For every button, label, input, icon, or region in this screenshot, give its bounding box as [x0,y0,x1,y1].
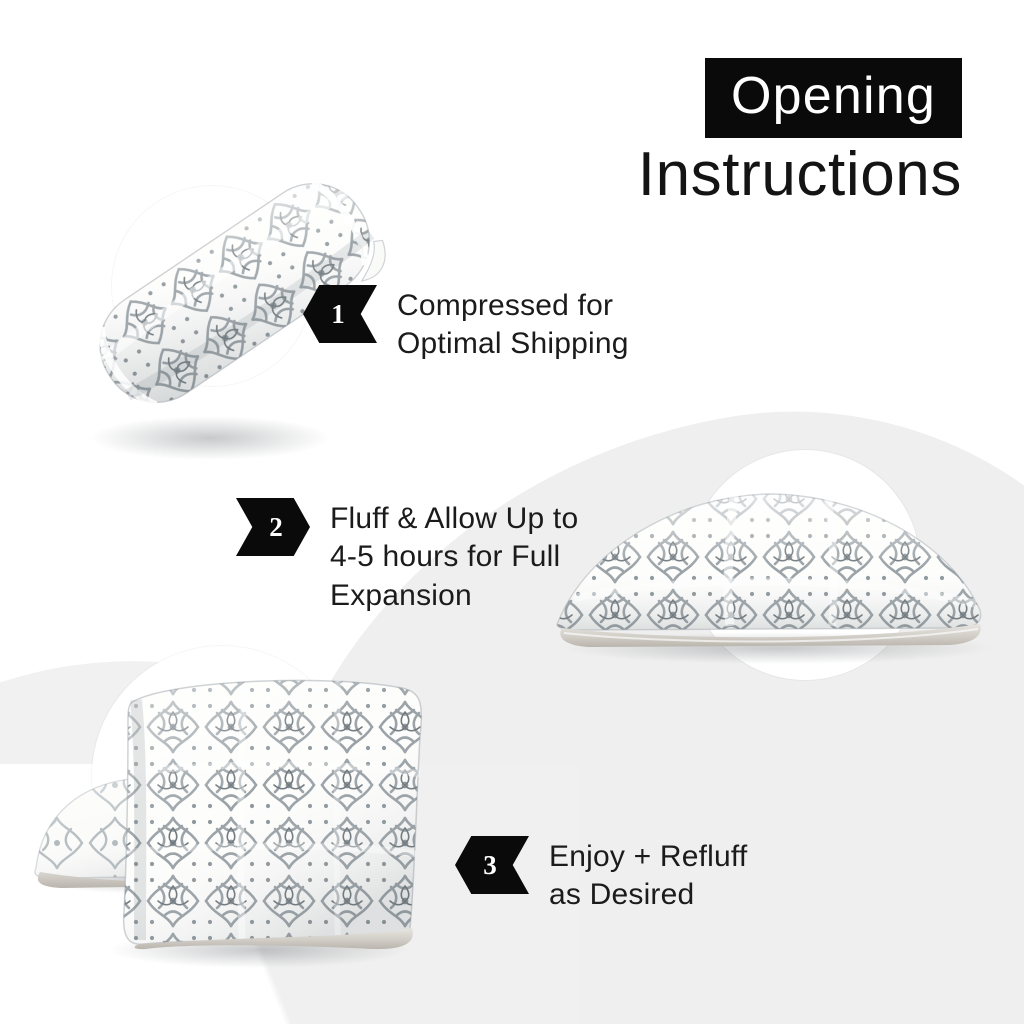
step-text-2: Fluff & Allow Up to 4-5 hours for Full E… [330,498,578,615]
step-number-badge-3: 3 [455,836,529,894]
step-item-2: 2 Fluff & Allow Up to 4-5 hours for Full… [236,498,578,615]
step-item-3: 3 Enjoy + Refluff as Desired [455,836,747,915]
title-banner-line: Opening [705,58,962,138]
step-number-badge-2: 2 [236,498,310,556]
title-second-line: Instructions [638,142,962,207]
pillow-pair-image [28,640,428,980]
step-text-3: Enjoy + Refluff as Desired [549,836,747,915]
step-number-2: 2 [269,514,283,541]
step-item-1: 1 Compressed for Optimal Shipping [303,285,629,364]
infographic-canvas: Opening Instructions 1 Compressed for Op… [0,0,1024,1024]
step-number-1: 1 [331,301,345,328]
step-text-1: Compressed for Optimal Shipping [397,285,629,364]
flattened-pillow-image [528,470,998,660]
step-number-3: 3 [483,852,497,879]
step-number-badge-1: 1 [303,285,377,343]
page-title: Opening Instructions [638,58,962,207]
